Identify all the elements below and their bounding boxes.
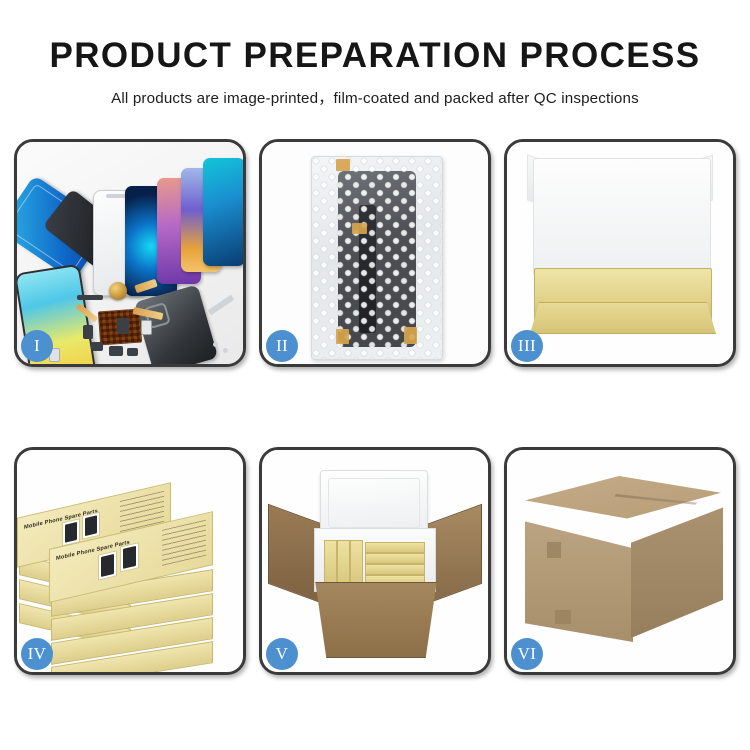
process-steps-grid: I II (14, 139, 736, 675)
step-5-image (262, 450, 488, 672)
step-panel-1: I (14, 139, 246, 367)
tape-bottom-left (336, 329, 349, 344)
step-panel-5: V (259, 447, 491, 675)
carton-side-face (631, 502, 723, 638)
step-badge-1: I (21, 330, 53, 362)
part-chip-4 (127, 348, 138, 356)
speaker-component (109, 282, 127, 300)
infographic-page: PRODUCT PREPARATION PROCESS All products… (0, 0, 750, 750)
label-phone-img-2b (120, 542, 139, 572)
step-badge-3: III (511, 330, 543, 362)
part-chip-1 (83, 325, 93, 339)
inner-box-6 (365, 564, 425, 575)
step-badge-5: V (266, 638, 298, 670)
step-6-image (507, 450, 733, 672)
foam-lid (320, 470, 428, 536)
step-badge-6: VI (511, 638, 543, 670)
bubble-wrap-bag (311, 156, 443, 360)
tape-bottom-right (404, 327, 417, 344)
screw-1 (213, 342, 218, 347)
part-chip-2 (91, 342, 103, 351)
step-2-image (262, 142, 488, 364)
inner-box-3 (350, 540, 363, 584)
inner-box-1 (324, 540, 337, 584)
box-white-lid (533, 158, 711, 276)
screw-2 (223, 348, 228, 353)
step-badge-2: II (266, 330, 298, 362)
page-title: PRODUCT PREPARATION PROCESS (0, 38, 750, 75)
step-panel-4: Mobile Phone Spare Parts Mobile Phone Sp… (14, 447, 246, 675)
tape-middle (352, 223, 367, 234)
carton-tape-lower (555, 610, 571, 624)
inner-box-5 (365, 553, 425, 564)
part-sim-tray (141, 320, 152, 335)
tape-top (336, 159, 350, 171)
step-panel-2: II (259, 139, 491, 367)
inner-box-4 (365, 542, 425, 553)
page-subtitle: All products are image-printed，film-coat… (0, 86, 750, 108)
carton-tape-upper (547, 542, 561, 558)
step-3-image (507, 142, 733, 364)
inner-box-2 (337, 540, 350, 584)
step-badge-4: IV (21, 638, 53, 670)
part-chip-3 (109, 346, 123, 356)
step-panel-6: VI (504, 447, 736, 675)
label-phone-img-1b (82, 512, 100, 540)
label-phone-img-2a (98, 550, 117, 580)
screwdriver-tool (208, 295, 235, 316)
step-1-image (17, 142, 243, 364)
carton-front-face (525, 508, 633, 642)
step-4-image: Mobile Phone Spare Parts Mobile Phone Sp… (17, 450, 243, 672)
part-chip-5 (117, 318, 129, 334)
label-text-lines-2 (162, 520, 206, 566)
step-panel-3: III (504, 139, 736, 367)
bubble-texture (312, 157, 442, 359)
box-stack: Mobile Phone Spare Parts Mobile Phone Sp… (17, 472, 243, 668)
shipping-carton-body (307, 582, 445, 658)
box-kraft-front (530, 302, 716, 334)
header: PRODUCT PREPARATION PROCESS All products… (0, 0, 750, 108)
phone-screen-aqua (203, 158, 243, 266)
part-strip-1 (77, 295, 103, 300)
